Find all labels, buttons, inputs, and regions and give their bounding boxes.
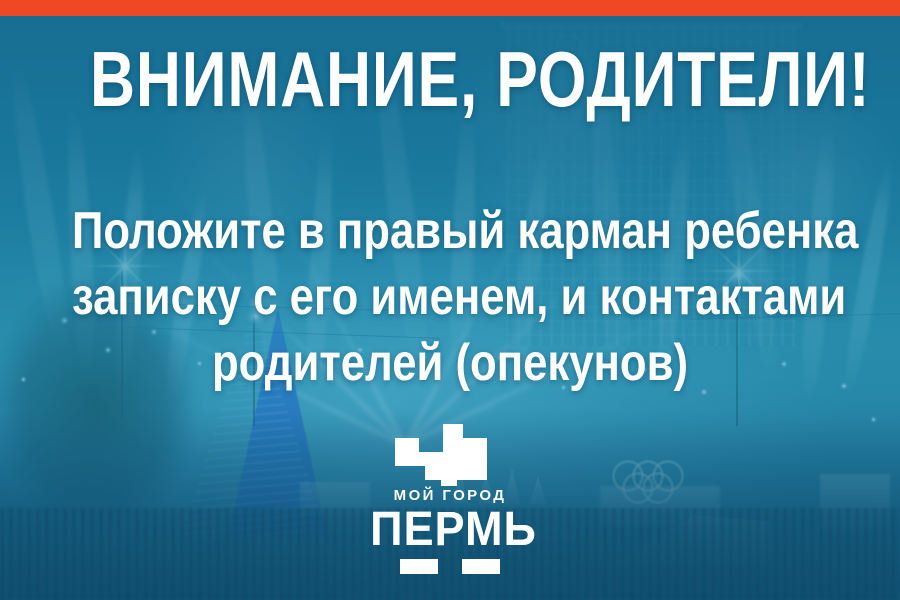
brand-logo: МОЙ ГОРОД ПЕРМЬ xyxy=(365,424,535,574)
logo-underbar-left xyxy=(400,559,438,574)
instruction-line-2: записку с его именем, и контактами xyxy=(72,264,828,330)
instruction-line-3: родителей (опекунов) xyxy=(72,330,828,396)
logo-underbars xyxy=(365,559,535,574)
instruction-line-1: Положите в правый карман ребенка xyxy=(72,198,828,264)
instruction-text: Положите в правый карман ребенка записку… xyxy=(72,198,828,396)
poster: ВНИМАНИЕ, РОДИТЕЛИ! Положите в правый ка… xyxy=(0,0,900,600)
poster-content: ВНИМАНИЕ, РОДИТЕЛИ! Положите в правый ка… xyxy=(0,0,900,600)
perm-bear-blocks-icon xyxy=(395,424,505,480)
page-title: ВНИМАНИЕ, РОДИТЕЛИ! xyxy=(90,38,810,120)
logo-tagline: МОЙ ГОРОД xyxy=(365,488,535,504)
logo-city-name: ПЕРМЬ xyxy=(370,505,530,555)
top-accent-bar xyxy=(0,0,900,16)
logo-underbar-right xyxy=(462,559,500,574)
